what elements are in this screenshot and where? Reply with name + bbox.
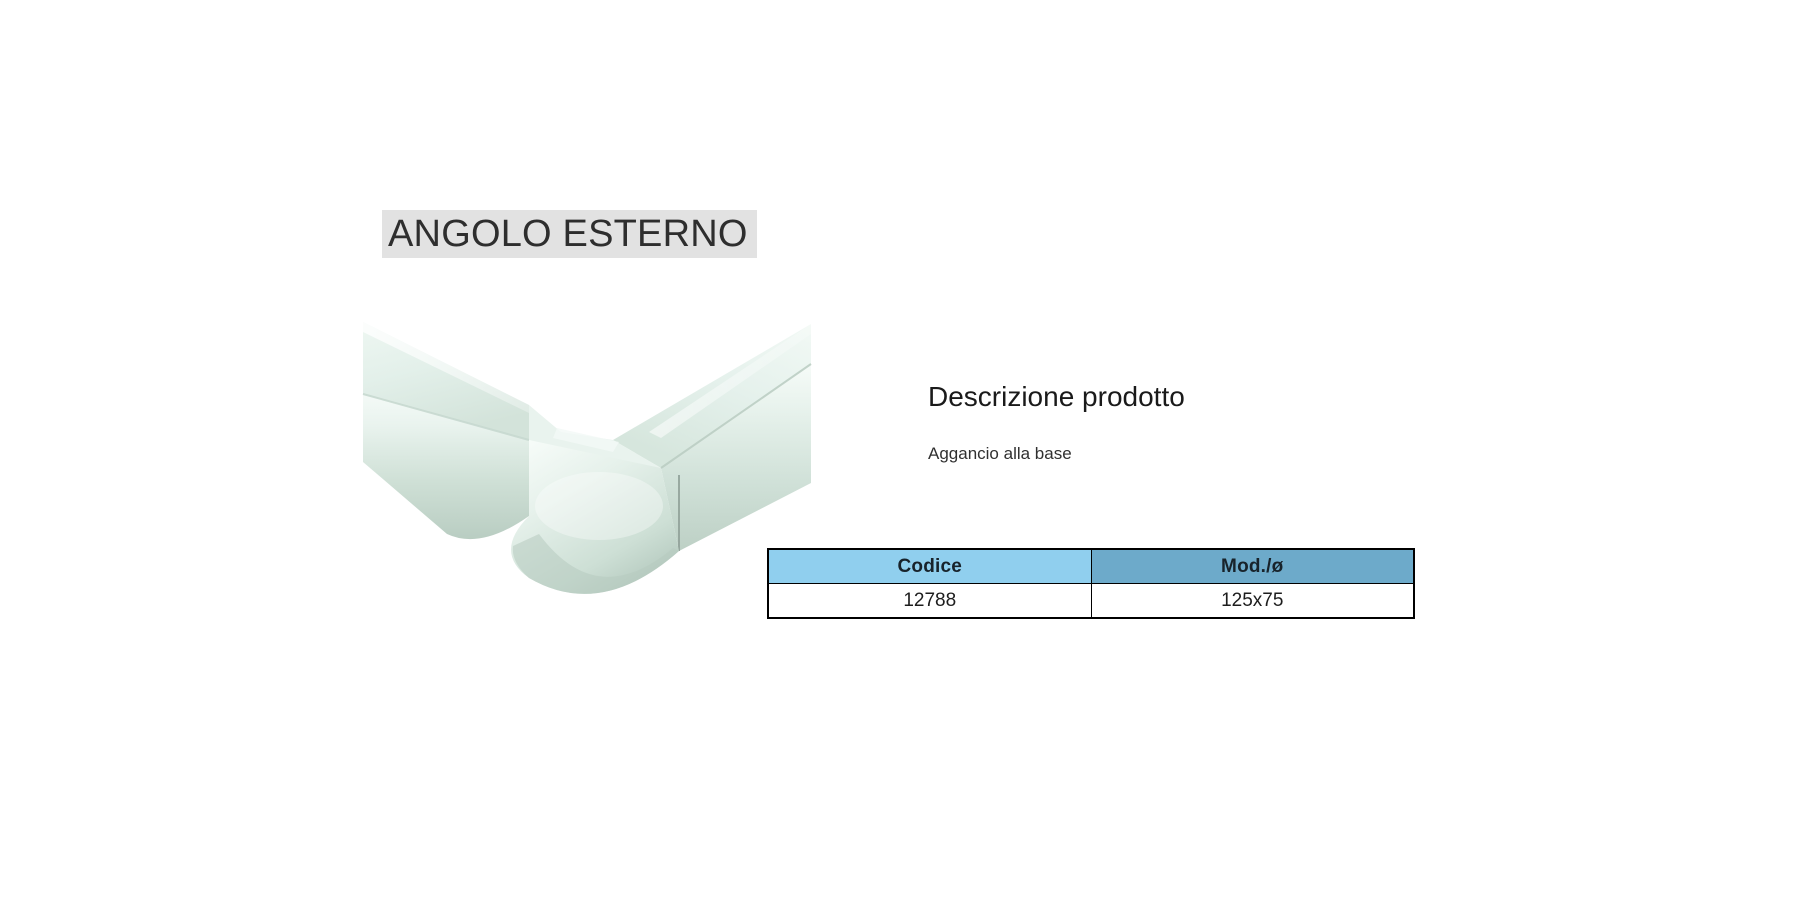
table-row: 12788 125x75 xyxy=(768,584,1414,619)
cell-modello: 125x75 xyxy=(1091,584,1414,619)
product-illustration xyxy=(361,320,813,623)
column-header-modello: Mod./ø xyxy=(1091,549,1414,584)
description-text: Aggancio alla base xyxy=(928,414,1528,464)
spec-table-container: Codice Mod./ø 12788 125x75 xyxy=(767,548,1415,619)
product-image xyxy=(361,320,813,623)
spec-table-body: 12788 125x75 xyxy=(768,584,1414,619)
table-header-row: Codice Mod./ø xyxy=(768,549,1414,584)
product-datasheet-page: ANGOLO ESTERNO xyxy=(0,0,1800,900)
description-heading: Descrizione prodotto xyxy=(928,380,1528,414)
description-block: Descrizione prodotto Aggancio alla base xyxy=(928,380,1528,464)
cell-codice: 12788 xyxy=(768,584,1091,619)
page-title-banner: ANGOLO ESTERNO xyxy=(382,210,757,258)
page-title: ANGOLO ESTERNO xyxy=(388,215,748,253)
spec-table-head: Codice Mod./ø xyxy=(768,549,1414,584)
spec-table: Codice Mod./ø 12788 125x75 xyxy=(767,548,1415,619)
column-header-codice: Codice xyxy=(768,549,1091,584)
